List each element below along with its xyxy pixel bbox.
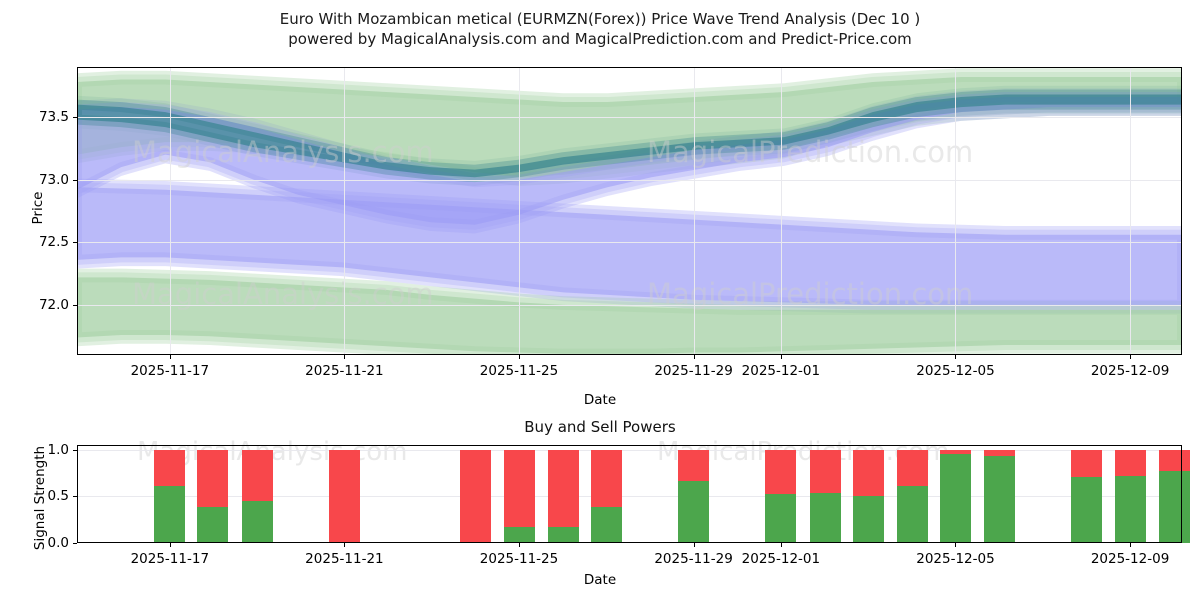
buy-sell-x-axis-title: Date (0, 572, 1200, 588)
buy-sell-bar[interactable] (154, 450, 185, 543)
sell-power-segment (242, 450, 273, 501)
page-title: Euro With Mozambican metical (EURMZN(For… (0, 10, 1200, 49)
sell-power-segment (1115, 450, 1146, 476)
sell-power-segment (678, 450, 709, 482)
buy-sell-bar[interactable] (548, 450, 579, 543)
buy-sell-x-tick-label: 2025-11-17 (131, 551, 209, 567)
buy-sell-bar[interactable] (678, 450, 709, 543)
price-gridline-v (1130, 67, 1131, 355)
price-x-tick (781, 355, 782, 359)
buy-sell-y-tick-label: 0.0 (48, 535, 69, 551)
buy-power-segment (197, 507, 228, 543)
price-gridline-v (781, 67, 782, 355)
buy-sell-x-tick (955, 543, 956, 547)
sell-power-segment (1071, 450, 1102, 477)
buy-sell-x-tick (519, 543, 520, 547)
price-x-tick-label: 2025-11-21 (305, 363, 383, 379)
price-x-tick-label: 2025-12-09 (1091, 363, 1169, 379)
buy-sell-x-tick (344, 543, 345, 547)
buy-sell-bar[interactable] (984, 450, 1015, 543)
price-gridline-v (344, 67, 345, 355)
buy-sell-bar[interactable] (504, 450, 535, 543)
price-y-tick (73, 242, 77, 243)
buy-sell-chart-title: Buy and Sell Powers (0, 418, 1200, 436)
buy-sell-x-tick (694, 543, 695, 547)
buy-power-segment (591, 507, 622, 543)
price-gridline-v (955, 67, 956, 355)
buy-sell-y-axis-title: Signal Strength (32, 418, 48, 578)
buy-sell-bar[interactable] (1115, 450, 1146, 543)
buy-power-segment (1071, 477, 1102, 543)
sell-power-segment (810, 450, 841, 493)
buy-power-segment (678, 481, 709, 543)
buy-power-segment (1115, 476, 1146, 543)
price-y-tick (73, 117, 77, 118)
buy-sell-bar[interactable] (1071, 450, 1102, 543)
price-x-tick (1130, 355, 1131, 359)
sell-power-segment (1159, 450, 1190, 471)
price-x-tick (955, 355, 956, 359)
buy-sell-y-tick (73, 450, 77, 451)
buy-sell-bar[interactable] (810, 450, 841, 543)
buy-sell-bar[interactable] (329, 450, 360, 543)
price-gridline-h (77, 117, 1182, 118)
price-wave-chart[interactable]: MagicalAnalysis.com MagicalPrediction.co… (77, 67, 1182, 355)
price-wave-bands (77, 67, 1182, 355)
sell-power-segment (329, 450, 360, 543)
sell-power-segment (853, 450, 884, 497)
buy-sell-bar[interactable] (940, 450, 971, 543)
chart-page: Euro With Mozambican metical (EURMZN(For… (0, 0, 1200, 600)
sell-power-segment (460, 450, 491, 543)
buy-sell-bar[interactable] (897, 450, 928, 543)
buy-sell-x-tick (1130, 543, 1131, 547)
buy-sell-y-tick (73, 496, 77, 497)
buy-sell-bar[interactable] (591, 450, 622, 543)
sell-power-segment (984, 450, 1015, 457)
buy-sell-y-tick (73, 543, 77, 544)
buy-power-segment (504, 527, 535, 543)
price-gridline-h (77, 305, 1182, 306)
price-gridline-v (694, 67, 695, 355)
buy-power-segment (1159, 471, 1190, 543)
buy-sell-x-tick-label: 2025-12-01 (742, 551, 820, 567)
buy-power-segment (853, 496, 884, 543)
price-x-tick-label: 2025-11-25 (480, 363, 558, 379)
price-x-tick (694, 355, 695, 359)
price-x-axis-title: Date (0, 392, 1200, 408)
price-gridline-v (519, 67, 520, 355)
buy-sell-x-tick-label: 2025-12-09 (1091, 551, 1169, 567)
buy-sell-x-tick (170, 543, 171, 547)
price-x-tick (344, 355, 345, 359)
price-x-tick-label: 2025-12-01 (742, 363, 820, 379)
buy-power-segment (810, 493, 841, 543)
buy-sell-bar[interactable] (765, 450, 796, 543)
buy-power-segment (548, 527, 579, 543)
sell-power-segment (548, 450, 579, 527)
title-line-2: powered by MagicalAnalysis.com and Magic… (0, 30, 1200, 50)
sell-power-segment (504, 450, 535, 527)
price-x-tick-label: 2025-12-05 (916, 363, 994, 379)
buy-power-segment (897, 486, 928, 543)
price-x-tick-label: 2025-11-17 (131, 363, 209, 379)
price-x-tick (170, 355, 171, 359)
price-y-tick (73, 305, 77, 306)
buy-sell-x-tick-label: 2025-11-21 (305, 551, 383, 567)
price-y-axis-title: Price (30, 148, 46, 268)
buy-sell-y-tick-label: 1.0 (48, 442, 69, 458)
buy-sell-bar[interactable] (197, 450, 228, 543)
buy-power-segment (242, 501, 273, 543)
price-gridline-h (77, 242, 1182, 243)
buy-sell-y-tick-label: 0.5 (48, 488, 69, 504)
price-y-tick (73, 180, 77, 181)
buy-sell-bar[interactable] (242, 450, 273, 543)
buy-power-segment (154, 486, 185, 543)
buy-power-segment (765, 494, 796, 543)
buy-power-segment (984, 456, 1015, 543)
sell-power-segment (897, 450, 928, 486)
buy-sell-x-tick-label: 2025-11-29 (654, 551, 732, 567)
price-y-tick-label: 73.5 (39, 109, 69, 125)
price-x-tick (519, 355, 520, 359)
sell-power-segment (154, 450, 185, 486)
buy-sell-bar[interactable] (853, 450, 884, 543)
title-line-1: Euro With Mozambican metical (EURMZN(For… (0, 10, 1200, 30)
sell-power-segment (591, 450, 622, 507)
buy-sell-bar[interactable] (460, 450, 491, 543)
sell-power-segment (197, 450, 228, 507)
price-gridline-h (77, 180, 1182, 181)
price-x-tick-label: 2025-11-29 (654, 363, 732, 379)
buy-sell-x-tick-label: 2025-12-05 (916, 551, 994, 567)
buy-power-segment (940, 454, 971, 543)
buy-sell-powers-chart[interactable]: MagicalAnalysis.com MagicalPrediction.co… (77, 445, 1182, 543)
price-gridline-v (170, 67, 171, 355)
buy-sell-x-tick-label: 2025-11-25 (480, 551, 558, 567)
buy-sell-bar[interactable] (1159, 450, 1190, 543)
price-y-tick-label: 72.0 (39, 297, 69, 313)
buy-sell-x-tick (781, 543, 782, 547)
sell-power-segment (765, 450, 796, 494)
